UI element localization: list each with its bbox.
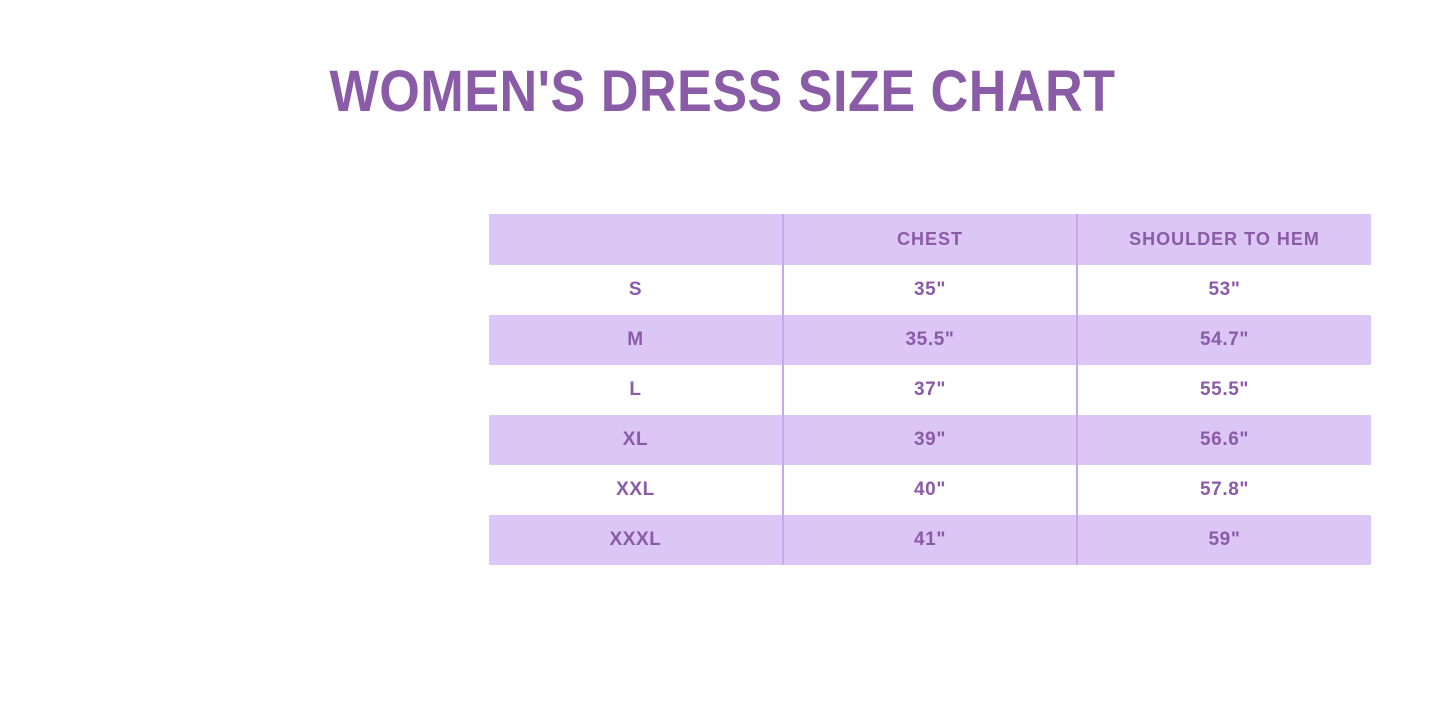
shoulder-to-hem-value: 57.8" [1078,465,1371,515]
size-chart-page: WOMEN'S DRESS SIZE CHART CHEST SHOULDER … [0,0,1445,723]
cell-size: L [489,365,783,415]
table-row: L 37" 55.5" [489,365,1371,415]
chest-value: 41" [784,515,1076,565]
cell-size: M [489,315,783,365]
table-row: M 35.5" 54.7" [489,315,1371,365]
size-label: L [489,365,782,415]
size-chart-table-container: CHEST SHOULDER TO HEM S 35" 53" [489,214,1371,565]
cell-chest: 40" [783,465,1077,515]
column-header-chest-label: CHEST [784,214,1076,265]
shoulder-to-hem-value: 55.5" [1078,365,1371,415]
cell-size: XXXL [489,515,783,565]
size-label: XL [489,415,782,465]
size-chart-table: CHEST SHOULDER TO HEM S 35" 53" [489,214,1371,565]
shoulder-to-hem-value: 54.7" [1078,315,1371,365]
size-label: M [489,315,782,365]
column-header-size [489,214,783,265]
chest-value: 40" [784,465,1076,515]
shoulder-to-hem-value: 59" [1078,515,1371,565]
page-title: WOMEN'S DRESS SIZE CHART [72,57,1373,127]
cell-shoulder-to-hem: 54.7" [1077,315,1371,365]
column-header-chest: CHEST [783,214,1077,265]
table-row: XXL 40" 57.8" [489,465,1371,515]
column-header-shoulder-to-hem: SHOULDER TO HEM [1077,214,1371,265]
chest-value: 35" [784,265,1076,315]
size-label: S [489,265,782,315]
chest-value: 37" [784,365,1076,415]
chest-value: 35.5" [784,315,1076,365]
table-header: CHEST SHOULDER TO HEM [489,214,1371,265]
chest-value: 39" [784,415,1076,465]
cell-shoulder-to-hem: 57.8" [1077,465,1371,515]
cell-chest: 41" [783,515,1077,565]
size-label: XXL [489,465,782,515]
cell-size: XL [489,415,783,465]
cell-shoulder-to-hem: 55.5" [1077,365,1371,415]
cell-chest: 35" [783,265,1077,315]
table-body: S 35" 53" M 35.5" [489,265,1371,565]
table-row: XL 39" 56.6" [489,415,1371,465]
cell-chest: 35.5" [783,315,1077,365]
cell-chest: 39" [783,415,1077,465]
size-label: XXXL [489,515,782,565]
cell-shoulder-to-hem: 56.6" [1077,415,1371,465]
cell-size: XXL [489,465,783,515]
column-header-shoulder-to-hem-label: SHOULDER TO HEM [1078,214,1371,265]
table-row: S 35" 53" [489,265,1371,315]
cell-size: S [489,265,783,315]
shoulder-to-hem-value: 53" [1078,265,1371,315]
table-row: XXXL 41" 59" [489,515,1371,565]
cell-shoulder-to-hem: 59" [1077,515,1371,565]
shoulder-to-hem-value: 56.6" [1078,415,1371,465]
table-header-row: CHEST SHOULDER TO HEM [489,214,1371,265]
cell-chest: 37" [783,365,1077,415]
cell-shoulder-to-hem: 53" [1077,265,1371,315]
